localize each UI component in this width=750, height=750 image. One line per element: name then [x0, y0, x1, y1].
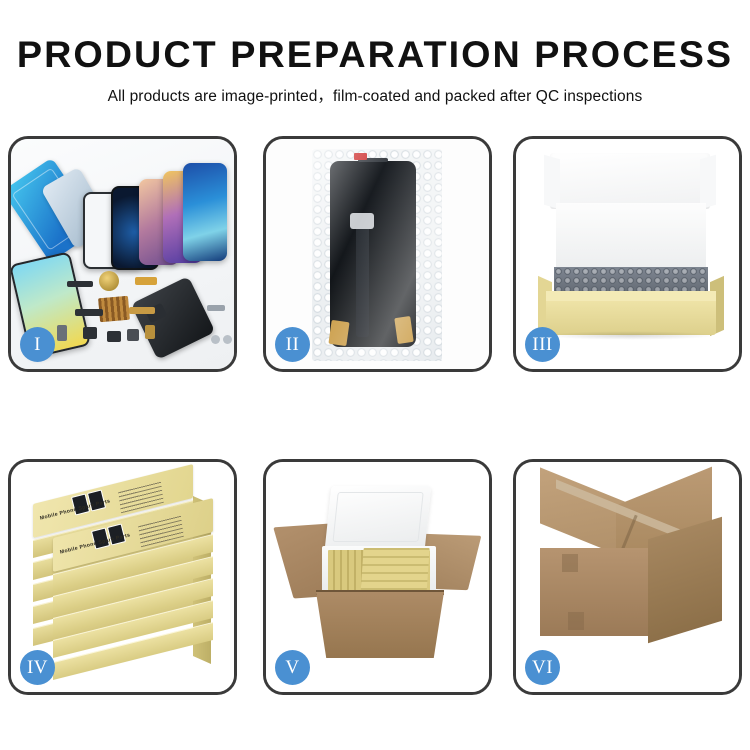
small-component-part [107, 331, 121, 342]
flex-cable-part [67, 281, 93, 287]
small-component-part [83, 327, 97, 339]
step-badge-4: IV [20, 650, 55, 685]
step-badge-6: VI [525, 650, 560, 685]
white-foam-sheet [556, 203, 706, 271]
step-badge-1: I [20, 327, 55, 362]
screw-part [211, 335, 220, 344]
process-step-4: Mobile Phone Spare Parts Mobile Phone Sp… [8, 459, 237, 695]
step-badge-2: II [275, 327, 310, 362]
phone-back-housing [131, 276, 216, 360]
plastic-sheen [312, 149, 442, 361]
process-step-1: I [8, 136, 237, 372]
flex-cable-part [129, 307, 155, 314]
gold-boxes-in-carton [360, 548, 429, 596]
carton-front-face [540, 548, 648, 636]
gold-tray-front [546, 299, 716, 335]
process-step-grid: I II [0, 133, 750, 698]
small-component-part [57, 325, 67, 341]
process-step-2: II [263, 136, 492, 372]
header: PRODUCT PREPARATION PROCESS All products… [0, 0, 750, 125]
product-preparation-infographic: PRODUCT PREPARATION PROCESS All products… [0, 0, 750, 750]
step-badge-5: V [275, 650, 310, 685]
phone-screen-teal [183, 163, 227, 261]
chip-grid-part [98, 296, 130, 323]
process-step-5: V [263, 459, 492, 695]
process-step-3: III [513, 136, 742, 372]
page-title: PRODUCT PREPARATION PROCESS [0, 33, 750, 77]
carton-side-face [648, 517, 722, 644]
process-step-6: VI [513, 459, 742, 695]
copper-coil-part [99, 271, 119, 291]
flex-cable-part [75, 309, 103, 316]
carton-tab [562, 554, 578, 572]
small-component-part [127, 329, 139, 341]
step-badge-3: III [525, 327, 560, 362]
bubble-wrap-bag [312, 149, 442, 361]
small-component-part [145, 325, 155, 339]
screw-part [223, 335, 232, 344]
carton-front-wall [316, 592, 444, 658]
page-subtitle: All products are image-printed，film-coat… [0, 86, 750, 108]
foam-lid [325, 486, 432, 550]
carton-tab [568, 612, 584, 630]
drop-shadow [544, 331, 716, 340]
tool-part [207, 305, 225, 311]
flex-cable-part [135, 277, 157, 285]
white-box-lid [550, 153, 710, 209]
